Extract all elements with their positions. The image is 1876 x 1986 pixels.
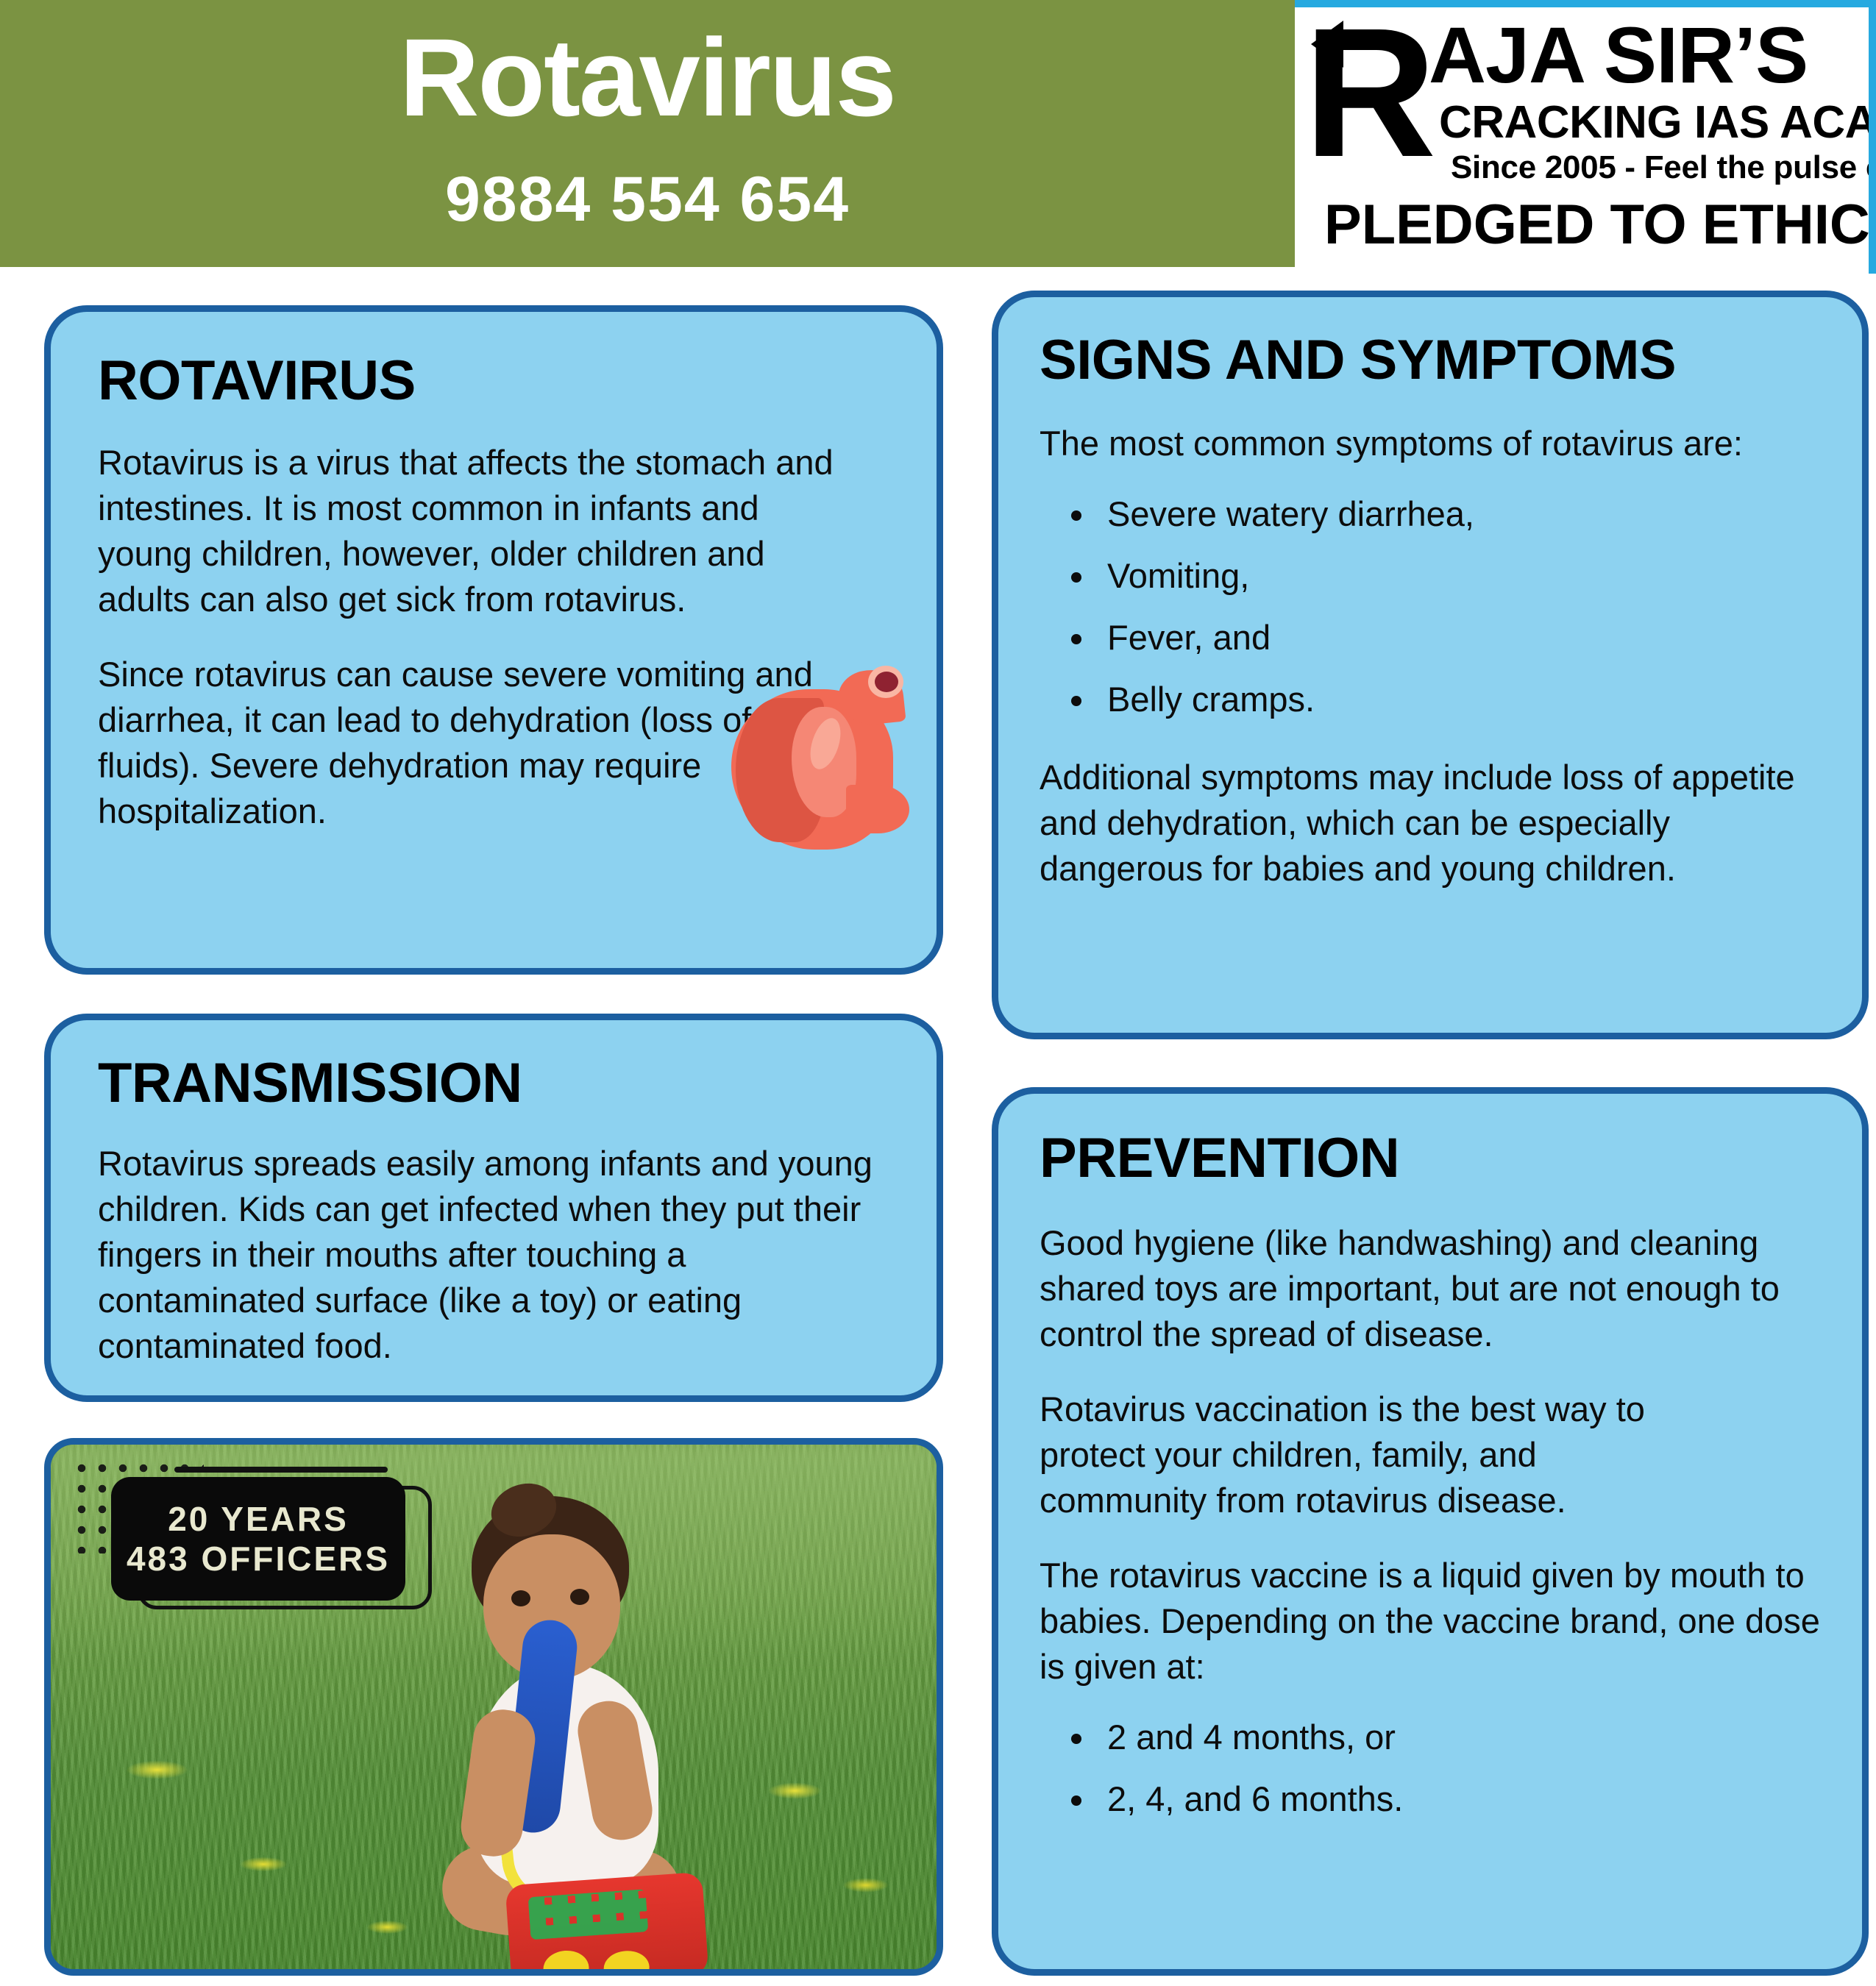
symptoms-list: Severe watery diarrhea, Vomiting, Fever,… bbox=[1097, 491, 1821, 722]
badge-officers-label: 483 OFFICERS bbox=[127, 1539, 390, 1579]
stomach-icon bbox=[709, 647, 930, 860]
list-item: 2, 4, and 6 months. bbox=[1097, 1776, 1821, 1822]
header-banner: Rotavirus 9884 554 654 bbox=[0, 0, 1295, 267]
toy-phone-base bbox=[505, 1872, 708, 1976]
card-transmission-paragraph-1: Rotavirus spreads easily among infants a… bbox=[98, 1141, 889, 1369]
left-arrow-icon bbox=[1311, 21, 1343, 68]
card-prevention-paragraph-1: Good hygiene (like handwashing) and clea… bbox=[1040, 1220, 1821, 1357]
contact-phone-number: 9884 554 654 bbox=[0, 168, 1295, 231]
card-transmission-title: TRANSMISSION bbox=[98, 1056, 889, 1111]
list-item: 2 and 4 months, or bbox=[1097, 1715, 1821, 1760]
list-item: Severe watery diarrhea, bbox=[1097, 491, 1821, 537]
card-signs-title: SIGNS AND SYMPTOMS bbox=[1040, 332, 1821, 388]
card-rotavirus-paragraph-1: Rotavirus is a virus that affects the st… bbox=[98, 440, 834, 622]
card-prevention-paragraph-2: Rotavirus vaccination is the best way to… bbox=[1040, 1387, 1702, 1523]
card-prevention-title: PREVENTION bbox=[1040, 1131, 1821, 1186]
card-signs-and-symptoms: SIGNS AND SYMPTOMS The most common sympt… bbox=[992, 291, 1869, 1039]
list-item: Fever, and bbox=[1097, 615, 1821, 661]
baby-figure bbox=[404, 1489, 713, 1974]
card-rotavirus: ROTAVIRUS Rotavirus is a virus that affe… bbox=[44, 305, 943, 975]
infographic-page: Rotavirus 9884 554 654 R AJA SIR’S CRACK… bbox=[0, 0, 1876, 1986]
card-transmission: TRANSMISSION Rotavirus spreads easily am… bbox=[44, 1014, 943, 1402]
badge-years-label: 20 YEARS bbox=[168, 1499, 349, 1539]
page-title: Rotavirus bbox=[0, 22, 1295, 132]
logo-academy-name: CRACKING IAS ACADEMY bbox=[1439, 100, 1876, 146]
logo-tagline: Since 2005 - Feel the pulse of UPSC bbox=[1451, 152, 1876, 184]
logo-ethics-pledge: PLEDGED TO ETHICS bbox=[1324, 197, 1876, 253]
list-item: Vomiting, bbox=[1097, 553, 1821, 599]
anniversary-badge: 20 YEARS 483 OFFICERS bbox=[111, 1477, 405, 1601]
dose-schedule-list: 2 and 4 months, or 2, 4, and 6 months. bbox=[1097, 1715, 1821, 1822]
card-prevention: PREVENTION Good hygiene (like handwashin… bbox=[992, 1087, 1869, 1976]
card-signs-outro: Additional symptoms may include loss of … bbox=[1040, 755, 1821, 891]
logo-brand-name: AJA SIR’S bbox=[1429, 13, 1808, 96]
academy-logo[interactable]: R AJA SIR’S CRACKING IAS ACADEMY Since 2… bbox=[1295, 0, 1876, 274]
baby-photo: 20 YEARS 483 OFFICERS bbox=[44, 1438, 943, 1976]
card-signs-intro: The most common symptoms of rotavirus ar… bbox=[1040, 421, 1821, 466]
card-prevention-paragraph-3: The rotavirus vaccine is a liquid given … bbox=[1040, 1553, 1821, 1690]
badge-rule-decoration bbox=[174, 1467, 388, 1473]
card-rotavirus-title: ROTAVIRUS bbox=[98, 353, 889, 409]
list-item: Belly cramps. bbox=[1097, 677, 1821, 722]
